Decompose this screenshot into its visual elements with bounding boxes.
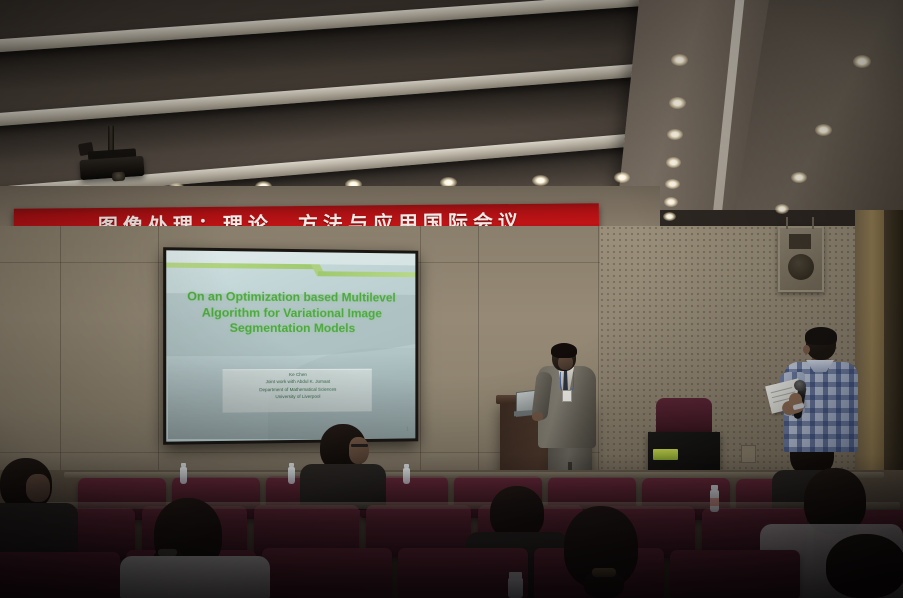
wall-column-shadow: [884, 210, 903, 510]
slide-accent-stripe: [166, 263, 318, 270]
wall-seam: [420, 226, 421, 476]
wall-power-outlet[interactable]: [741, 445, 756, 463]
bottle-cap-icon: [404, 464, 409, 468]
slide-page-number: 1: [406, 427, 409, 433]
audience-torso: [120, 556, 270, 598]
projector-lens-icon: [112, 172, 126, 182]
hair-tie-icon: [592, 568, 616, 577]
seat-desk: [64, 472, 884, 478]
wall-seam: [598, 226, 599, 476]
seat-desk: [20, 502, 900, 509]
bottle-cap-icon: [509, 572, 522, 579]
auditorium-seat: [0, 552, 120, 598]
audience-face: [26, 474, 50, 502]
questioner-hair: [805, 327, 837, 345]
water-bottle[interactable]: [288, 467, 295, 484]
presentation-slide: On an Optimization based Multilevel Algo…: [166, 250, 415, 441]
questioner-ear: [803, 345, 810, 354]
wall-seam: [60, 226, 61, 476]
eyeglasses-icon: [351, 444, 368, 447]
wall-seam: [158, 226, 159, 476]
speaker-tweeter-icon: [789, 234, 811, 249]
slide-title-line-1: On an Optimization based Multilevel: [172, 289, 409, 306]
presenter-hair: [551, 343, 577, 358]
bottle-cap-icon: [289, 463, 294, 467]
wall-speaker: [778, 226, 824, 292]
slide-title-line-3: Segmentation Models: [172, 321, 409, 337]
presenter-name-badge: [562, 390, 572, 402]
audience-face: [349, 437, 369, 464]
slide-university: University of Liverpool: [223, 393, 372, 401]
auditorium-seat: [670, 550, 800, 598]
bottle-cap-icon: [181, 463, 186, 467]
bottle-cap-icon: [711, 485, 718, 490]
water-bottle[interactable]: [180, 467, 187, 484]
water-bottle[interactable]: [508, 578, 523, 598]
audience-head: [826, 534, 903, 598]
slide-author-block: Ke Chen Joint work with Abdul K. Jumaat …: [223, 371, 372, 401]
speaker-bracket: [786, 217, 788, 229]
slide-accent-stripe: [318, 271, 416, 277]
stage-chair: [656, 398, 712, 434]
cabinet-label: [653, 449, 678, 460]
slide-title: On an Optimization based Multilevel Algo…: [172, 289, 409, 337]
presenter-hand: [532, 412, 543, 421]
hair-tie-icon: [158, 549, 177, 556]
speaker-bracket: [812, 217, 814, 229]
water-bottle[interactable]: [403, 468, 410, 484]
wall-seam: [478, 226, 479, 476]
bottle-label: [710, 498, 719, 506]
ceiling: [0, 0, 903, 210]
ceiling-downlight: [663, 212, 676, 221]
slide-title-line-2: Algorithm for Variational Image: [172, 305, 409, 322]
speaker-driver-icon: [788, 254, 814, 280]
conference-hall-photo: 图像处理：理论、方法与应用国际会议 The International Conf…: [0, 0, 903, 598]
projection-screen: On an Optimization based Multilevel Algo…: [163, 247, 418, 445]
auditorium-seat: [262, 548, 392, 598]
